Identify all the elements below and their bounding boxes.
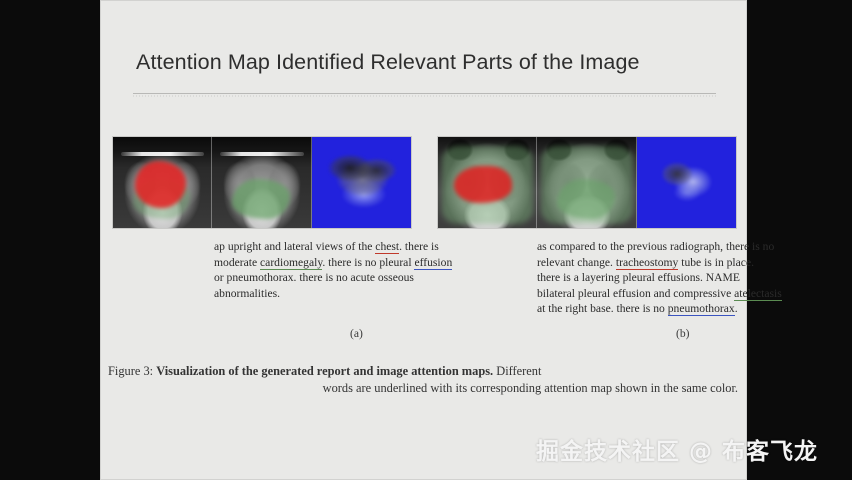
caption-line-1: Figure 3: Visualization of the generated… (108, 363, 740, 380)
report-line: bilateral pleural effusion and compressi… (537, 286, 842, 302)
watermark-text: 掘金技术社区 @ 布客飞龙 (536, 432, 818, 466)
caption-line-2-text: words are underlined with its correspond… (323, 381, 738, 395)
clavicle-bar (121, 152, 204, 156)
report-text-b: as compared to the previous radiograph, … (537, 239, 842, 317)
page-title: Attention Map Identified Relevant Parts … (136, 50, 726, 75)
report-text-span: there is a layering pleural effusions. N… (537, 271, 740, 284)
clavicle-bar (220, 152, 303, 156)
video-frame: Attention Map Identified Relevant Parts … (0, 0, 852, 480)
underlined-word-chest: chest (375, 240, 399, 254)
report-text-span: relevant change. (537, 256, 616, 269)
letterbox-left (0, 0, 100, 480)
green-attention-blob-core (557, 179, 615, 219)
report-line: there is a layering pleural effusions. N… (537, 270, 842, 286)
red-attention-blob (454, 166, 512, 202)
report-line: relevant change. tracheostomy tube is in… (537, 255, 842, 271)
figure-sublabel-a: (a) (350, 327, 363, 340)
caption-bold-text: Visualization of the generated report an… (156, 364, 493, 378)
underlined-word-pneumothorax: pneumothorax (668, 302, 735, 316)
caption-label: Figure 3: (108, 364, 153, 378)
image-strip-b (437, 136, 737, 229)
heatmap-blob (328, 150, 398, 210)
figure-panel-a (112, 136, 412, 229)
report-line: abnormalities. (214, 286, 514, 302)
report-text-span: bilateral pleural effusion and compressi… (537, 287, 734, 300)
slide-page: Attention Map Identified Relevant Parts … (100, 0, 747, 480)
report-text-span: moderate (214, 256, 260, 269)
report-text-span: . there is no pleural (322, 256, 414, 269)
report-line: ap upright and lateral views of the ches… (214, 239, 514, 255)
attention-heatmap-blue (312, 137, 411, 228)
figure-caption: Figure 3: Visualization of the generated… (108, 363, 740, 397)
heatmap-blob (662, 159, 712, 203)
image-strip-a (112, 136, 412, 229)
report-line: at the right base. there is no pneumotho… (537, 301, 842, 317)
radiograph-with-red-attention (438, 137, 537, 228)
underlined-word-tracheostomy: tracheostomy (616, 256, 678, 270)
radiograph-with-red-attention (113, 137, 212, 228)
report-text-span: abnormalities. (214, 287, 280, 300)
report-text-span: as compared to the previous radiograph, … (537, 240, 774, 253)
underlined-word-effusion: effusion (414, 256, 452, 270)
radiograph-with-green-attention (212, 137, 311, 228)
title-divider-shadow (133, 95, 716, 97)
title-divider (133, 93, 716, 94)
report-text-span: ap upright and lateral views of the (214, 240, 375, 253)
underlined-word-cardiomegaly: cardiomegaly (260, 256, 322, 270)
caption-line-2: words are underlined with its correspond… (108, 380, 740, 397)
report-text-span: . there is (399, 240, 439, 253)
report-line: or pneumothorax. there is no acute osseo… (214, 270, 514, 286)
figure-panel-b (437, 136, 737, 229)
report-line: as compared to the previous radiograph, … (537, 239, 842, 255)
underlined-word-atelectasis: atelectasis (734, 287, 782, 301)
report-text-span: tube is in place. (678, 256, 754, 269)
green-attention-blob (232, 179, 290, 219)
caption-tail-text: Different (496, 364, 541, 378)
report-text-span: or pneumothorax. there is no acute osseo… (214, 271, 414, 284)
attention-heatmap-blue (637, 137, 736, 228)
figure-sublabel-b: (b) (676, 327, 690, 340)
report-text-span: . (735, 302, 738, 315)
report-line: moderate cardiomegaly. there is no pleur… (214, 255, 514, 271)
radiograph-with-green-attention (537, 137, 636, 228)
report-text-span: at the right base. there is no (537, 302, 668, 315)
report-text-a: ap upright and lateral views of the ches… (214, 239, 514, 301)
